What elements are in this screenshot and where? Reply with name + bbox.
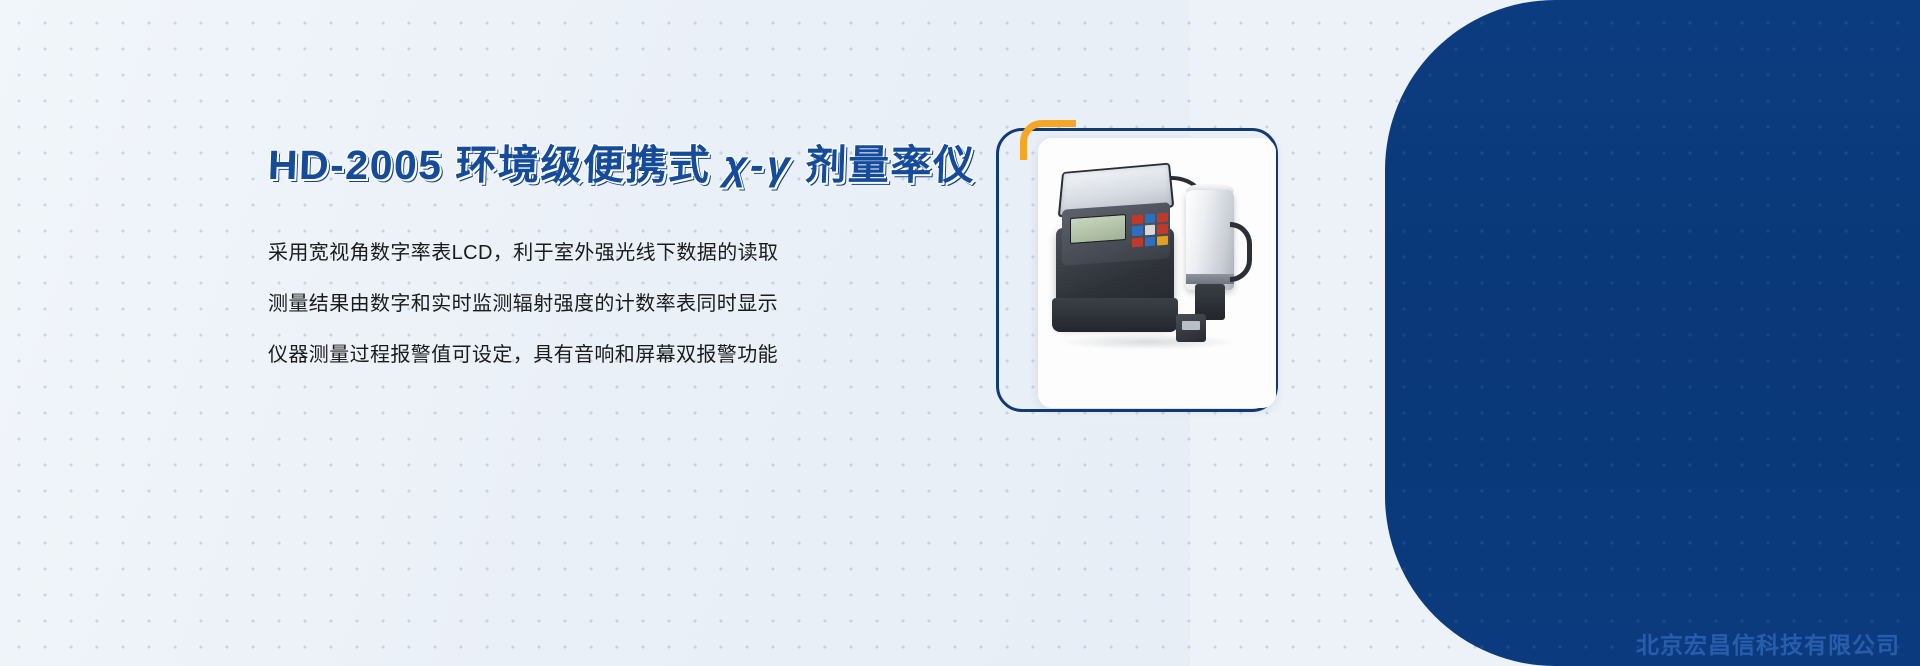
title-greek-symbols: χ-γ [723,142,794,188]
company-watermark: 北京宏昌信科技有限公司 [1636,626,1900,660]
navy-side-panel [1385,0,1920,666]
product-image-card [1038,138,1276,408]
feature-line-2: 测量结果由数字和实时监测辐射强度的计数率表同时显示 [268,294,1028,314]
title-part-one: 环境级便携式 [455,142,712,188]
feature-line-1: 采用宽视角数字率表LCD，利于室外强光线下数据的读取 [268,243,1028,263]
page-title: HD-2005 环境级便携式 χ-γ 剂量率仪 [267,140,1029,191]
feature-description-list: 采用宽视角数字率表LCD，利于室外强光线下数据的读取 测量结果由数字和实时监测辐… [268,243,1028,365]
title-model: HD-2005 [267,142,443,188]
title-part-two: 剂量率仪 [805,142,977,188]
navy-panel-dot-pattern [1385,0,1920,666]
feature-line-3: 仪器测量过程报警值可设定，具有音响和屏幕双报警功能 [268,345,1028,365]
detector-probe-handle [1230,222,1252,282]
detector-probe-ring [1186,274,1234,284]
meter-lcd-display [1070,214,1126,244]
meter-base [1052,298,1178,332]
product-shadow [1058,334,1238,350]
product-banner: HD-2005 环境级便携式 χ-γ 剂量率仪 采用宽视角数字率表LCD，利于室… [0,0,1920,666]
banner-text-column: HD-2005 环境级便携式 χ-γ 剂量率仪 采用宽视角数字率表LCD，利于室… [268,140,1028,365]
meter-keypad [1132,213,1168,248]
product-photo [1038,138,1276,408]
